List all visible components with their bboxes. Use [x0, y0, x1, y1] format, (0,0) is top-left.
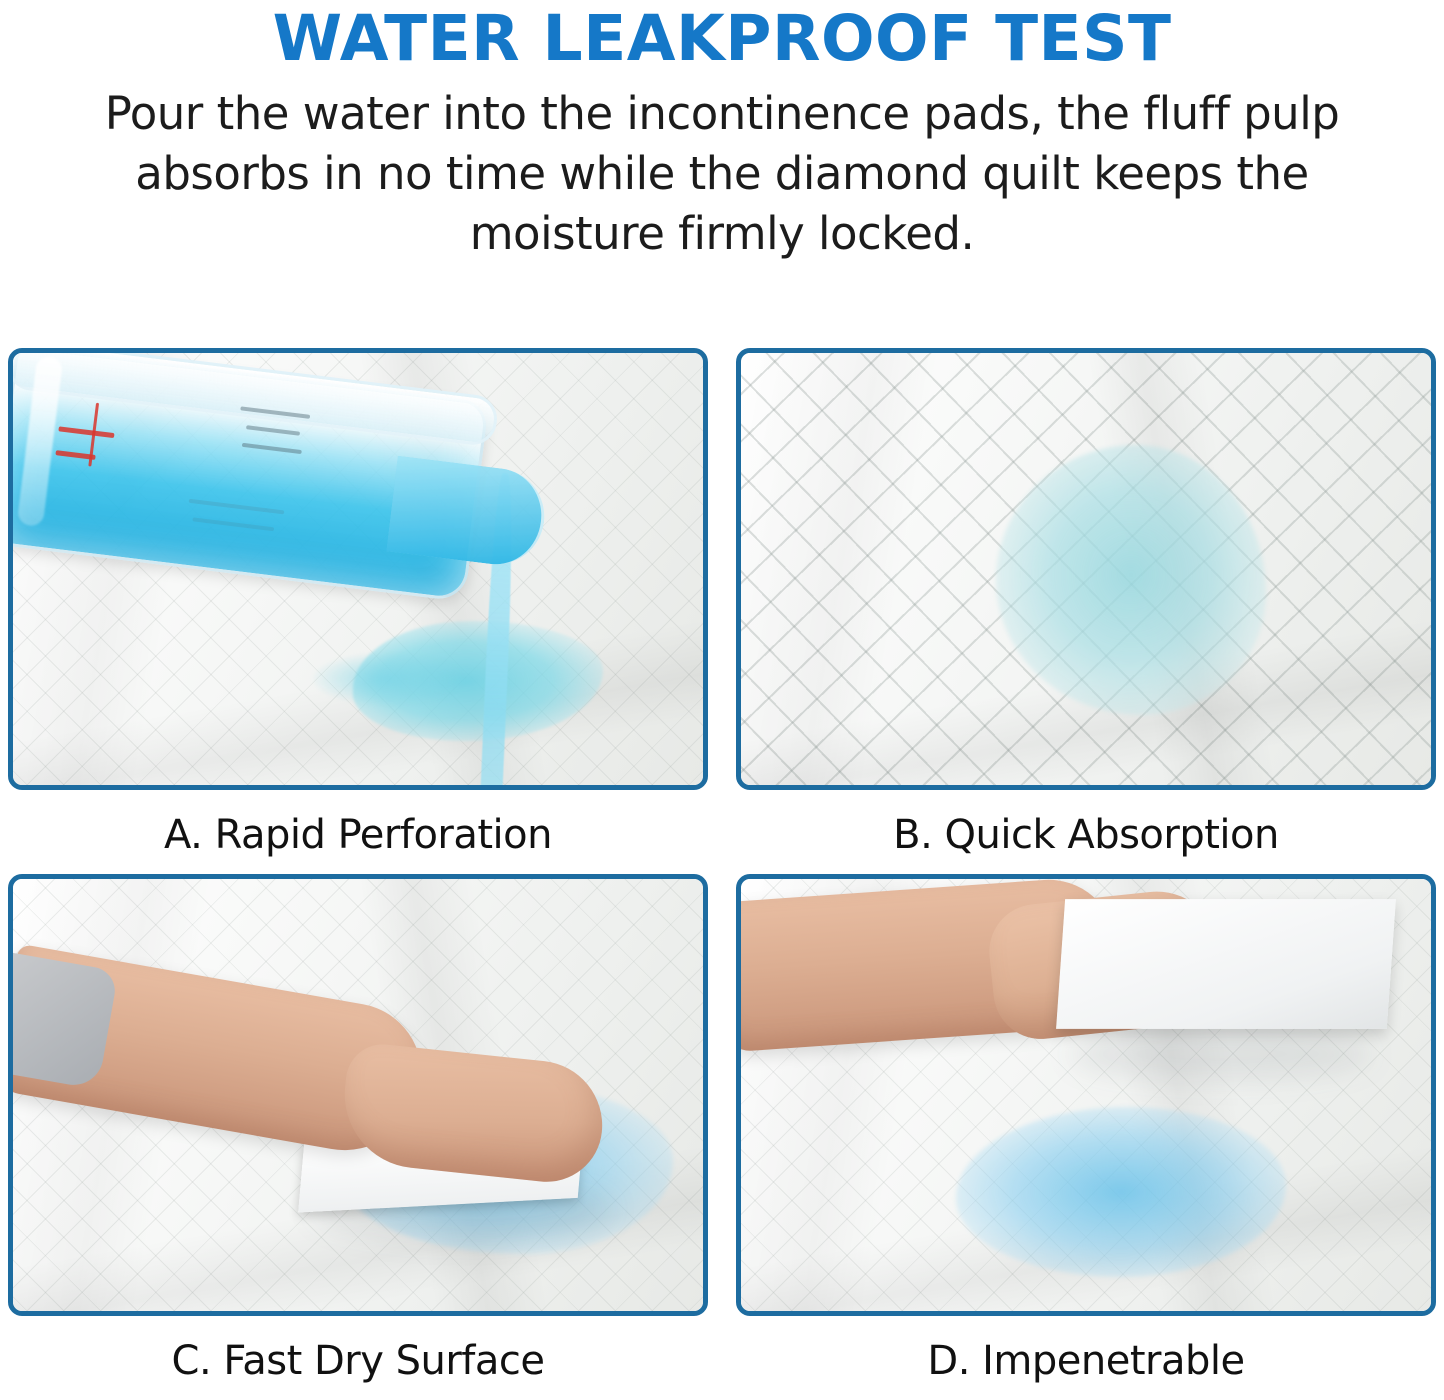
panel-c: C. Fast Dry Surface: [8, 874, 708, 1400]
panel-a: A. Rapid Perforation: [8, 348, 708, 874]
panel-b-caption: B. Quick Absorption: [736, 790, 1436, 874]
panel-b-image: [736, 348, 1436, 790]
page-title: WATER LEAKPROOF TEST: [0, 6, 1444, 72]
panel-c-image: [8, 874, 708, 1316]
water-puddle-edge: [313, 653, 463, 705]
header: WATER LEAKPROOF TEST Pour the water into…: [0, 0, 1444, 264]
panel-d: D. Impenetrable: [736, 874, 1436, 1400]
panel-d-caption: D. Impenetrable: [736, 1316, 1436, 1400]
panel-b: B. Quick Absorption: [736, 348, 1436, 874]
panel-a-image: [8, 348, 708, 790]
water-leakproof-test-infographic: WATER LEAKPROOF TEST Pour the water into…: [0, 0, 1444, 1400]
white-tissue-dry: [1056, 899, 1396, 1029]
panel-c-caption: C. Fast Dry Surface: [8, 1316, 708, 1400]
page-subtitle: Pour the water into the incontinence pad…: [24, 84, 1420, 264]
panel-a-caption: A. Rapid Perforation: [8, 790, 708, 874]
tissue-shadow: [1071, 1029, 1371, 1079]
beaker-spout: [386, 456, 550, 570]
panel-d-image: [736, 874, 1436, 1316]
panel-grid: A. Rapid Perforation B. Quick Absorption: [8, 348, 1436, 1400]
